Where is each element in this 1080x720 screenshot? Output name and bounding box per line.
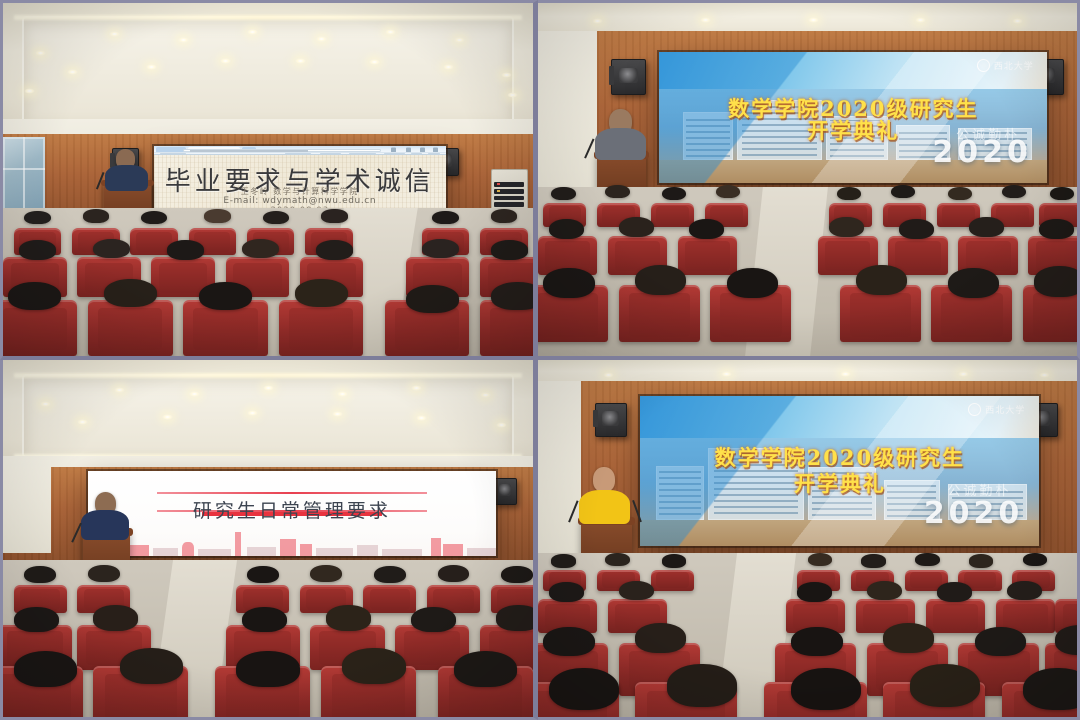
presenter-body-2 <box>595 128 646 160</box>
projection-screen-2: 西北大学 数学学院2020级研究生 开学典礼 公诚勤朴 2020 <box>659 52 1047 183</box>
seal-icon-4 <box>968 403 981 416</box>
speaker-right-3 <box>493 478 517 505</box>
presenter-body-4 <box>579 490 630 524</box>
speaker-left-4 <box>595 403 627 437</box>
presenter-body-3 <box>81 510 129 540</box>
slide-opening-ceremony-2: 西北大学 数学学院2020级研究生 开学典礼 公诚勤朴 2020 <box>659 52 1047 183</box>
lecture-hall-scene-1: 毕业要求与学术诚信 王冬岭 数学与计算科学学院 E-mail: wdymath@… <box>3 3 533 356</box>
collage-panel-3: 研究生日常管理要求 <box>0 360 538 720</box>
presenter-body-1 <box>105 165 147 191</box>
university-logo-2: 西北大学 <box>977 59 1034 72</box>
slide-title-3: 研究生日常管理要求 <box>88 496 496 523</box>
collage-panel-1: 毕业要求与学术诚信 王冬岭 数学与计算科学学院 E-mail: wdymath@… <box>0 0 538 360</box>
lecture-hall-scene-2: 西北大学 数学学院2020级研究生 开学典礼 公诚勤朴 2020 <box>538 3 1077 356</box>
presenter-head-4 <box>593 467 615 492</box>
year-watermark: 2020 <box>932 135 1032 170</box>
audience-area-2 <box>538 187 1077 356</box>
photo-collage: 毕业要求与学术诚信 王冬岭 数学与计算科学学院 E-mail: wdymath@… <box>0 0 1080 720</box>
seal-icon <box>977 59 990 72</box>
lecture-hall-scene-4: 西北大学 数学学院2020级研究生 开学典礼 公诚勤朴 2020 <box>538 360 1077 717</box>
audience-area-1 <box>3 208 533 356</box>
slide-daily-management: 研究生日常管理要求 <box>88 471 496 557</box>
collage-panel-2: 西北大学 数学学院2020级研究生 开学典礼 公诚勤朴 2020 <box>538 0 1080 360</box>
side-window <box>3 137 45 215</box>
speaker-left-2 <box>611 59 646 94</box>
skyline-decoration <box>88 527 496 556</box>
audience-area-4 <box>538 553 1077 717</box>
slide-email: E-mail: wdymath@nwu.edu.cn <box>154 196 446 206</box>
lecture-hall-scene-3: 研究生日常管理要求 <box>3 360 533 717</box>
audience-area-3 <box>3 560 533 717</box>
slide-opening-ceremony-4: 西北大学 数学学院2020级研究生 开学典礼 公诚勤朴 2020 <box>640 396 1039 546</box>
collage-panel-4: 西北大学 数学学院2020级研究生 开学典礼 公诚勤朴 2020 <box>538 360 1080 720</box>
university-logo-4: 西北大学 <box>968 403 1025 416</box>
projection-screen-3: 研究生日常管理要求 <box>88 471 496 557</box>
browser-chrome <box>154 146 446 155</box>
cove-light-top <box>14 15 523 20</box>
projection-screen-4: 西北大学 数学学院2020级研究生 开学典礼 公诚勤朴 2020 <box>640 396 1039 546</box>
browser-bookmarks-bar[interactable] <box>154 152 446 155</box>
year-watermark-4: 2020 <box>924 496 1024 531</box>
ceiling-recess <box>24 18 512 121</box>
